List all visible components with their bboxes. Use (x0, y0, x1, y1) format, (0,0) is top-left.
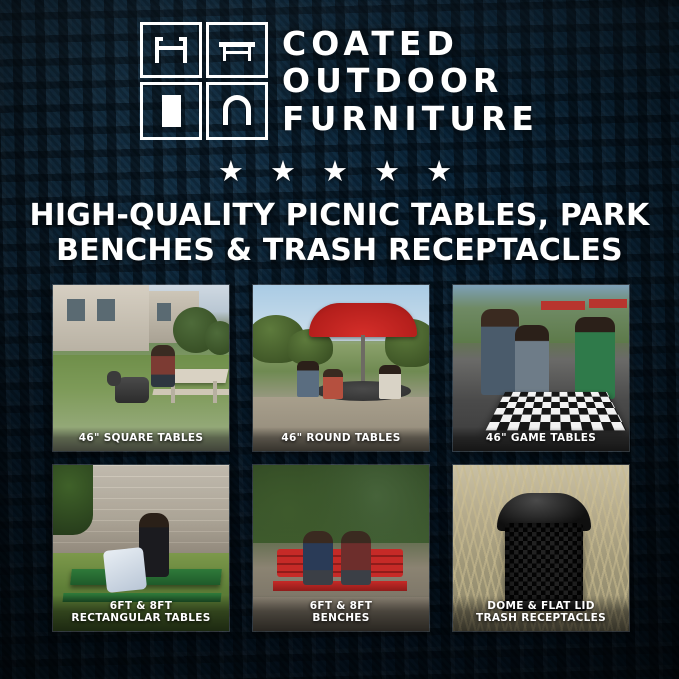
gallery-card-square-tables[interactable]: 46" SQUARE TABLES (52, 284, 230, 452)
gallery-caption: 46" SQUARE TABLES (53, 427, 229, 451)
gallery-card-trash-receptacles[interactable]: DOME & FLAT LID TRASH RECEPTACLES (452, 464, 630, 632)
trash-receptacle-icon (140, 82, 202, 140)
gallery-caption: 6FT & 8FT RECTANGULAR TABLES (53, 595, 229, 631)
page-title: HIGH-QUALITY PICNIC TABLES, PARK BENCHES… (28, 198, 651, 268)
picnic-table-end-icon (140, 22, 202, 78)
logo-mark-icon (140, 22, 268, 140)
wordmark-line-3: FURNITURE (282, 101, 539, 137)
gallery-caption-line-2: BENCHES (256, 612, 426, 624)
gallery-caption-line-2: RECTANGULAR TABLES (56, 612, 226, 624)
park-bench-icon (206, 22, 268, 78)
gallery-caption: DOME & FLAT LID TRASH RECEPTACLES (453, 595, 629, 631)
headline-line-1: HIGH-QUALITY PICNIC TABLES, PARK (28, 198, 651, 233)
gallery-caption: 46" ROUND TABLES (253, 427, 429, 451)
wordmark-line-2: OUTDOOR (282, 63, 539, 99)
brand-logo: COATED OUTDOOR FURNITURE (0, 22, 679, 140)
gallery-caption: 46" GAME TABLES (453, 427, 629, 451)
gallery-card-rectangular-tables[interactable]: 6FT & 8FT RECTANGULAR TABLES (52, 464, 230, 632)
product-poster: COATED OUTDOOR FURNITURE ★ ★ ★ ★ ★ HIGH-… (0, 0, 679, 679)
arched-frame-icon (206, 82, 268, 140)
gallery-card-round-tables[interactable]: 46" ROUND TABLES (252, 284, 430, 452)
star-rating: ★ ★ ★ ★ ★ (0, 158, 679, 187)
product-gallery-grid: 46" SQUARE TABLES 46" ROUND TAB (52, 284, 628, 630)
brand-wordmark: COATED OUTDOOR FURNITURE (282, 26, 539, 137)
gallery-card-game-tables[interactable]: 46" GAME TABLES (452, 284, 630, 452)
gallery-caption-line-1: 6FT & 8FT (256, 600, 426, 612)
gallery-caption: 6FT & 8FT BENCHES (253, 595, 429, 631)
gallery-caption-line-2: TRASH RECEPTACLES (456, 612, 626, 624)
gallery-card-benches[interactable]: 6FT & 8FT BENCHES (252, 464, 430, 632)
headline-line-2: BENCHES & TRASH RECEPTACLES (28, 233, 651, 268)
poster-content: COATED OUTDOOR FURNITURE ★ ★ ★ ★ ★ HIGH-… (0, 0, 679, 679)
wordmark-line-1: COATED (282, 26, 539, 62)
gallery-caption-line-1: 6FT & 8FT (56, 600, 226, 612)
gallery-caption-line-1: DOME & FLAT LID (456, 600, 626, 612)
